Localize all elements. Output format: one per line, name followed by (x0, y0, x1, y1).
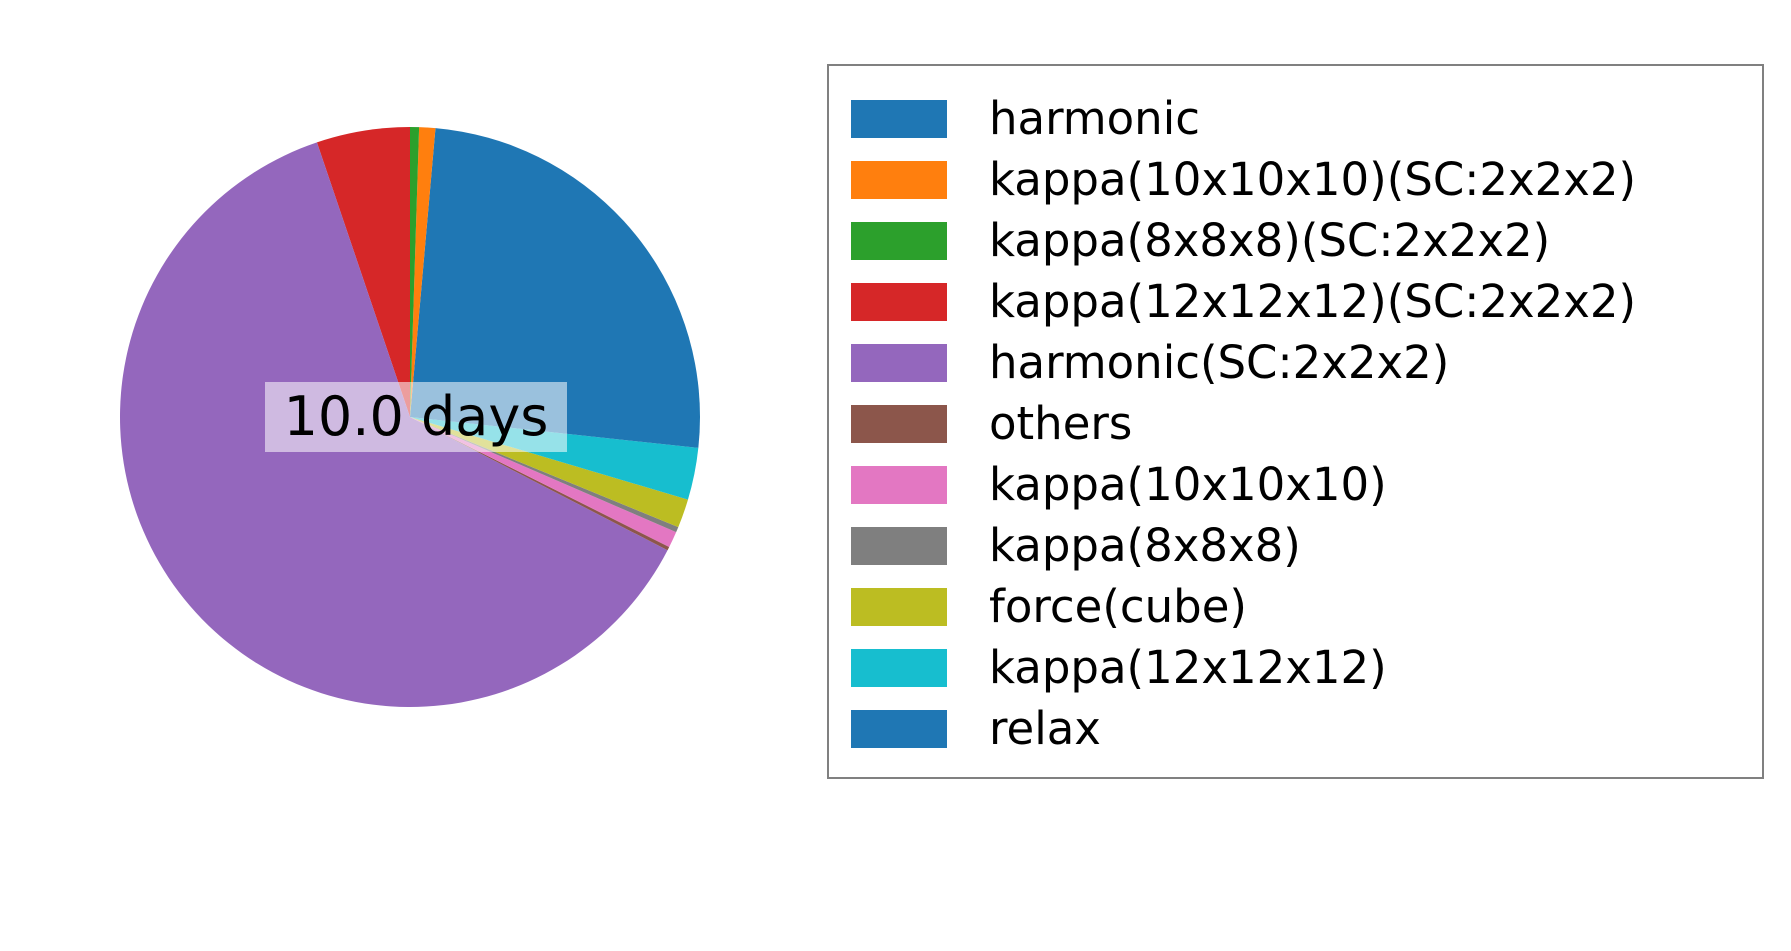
pie-center-label: 10.0 days (265, 382, 567, 452)
legend-item-relax[interactable]: relax (851, 698, 1762, 759)
legend-item-kappa-12x12x12-sc[interactable]: kappa(12x12x12)(SC:2x2x2) (851, 271, 1762, 332)
legend-item-label: harmonic (989, 96, 1200, 141)
legend-swatch-icon (851, 588, 947, 626)
legend-item-kappa-10x10x10[interactable]: kappa(10x10x10) (851, 454, 1762, 515)
legend-swatch-icon (851, 344, 947, 382)
legend-item-label: kappa(12x12x12) (989, 645, 1387, 690)
legend-swatch-icon (851, 222, 947, 260)
legend-item-label: force(cube) (989, 584, 1247, 629)
legend-item-label: others (989, 401, 1132, 446)
legend-box: harmonic kappa(10x10x10)(SC:2x2x2) kappa… (827, 64, 1764, 779)
legend-swatch-icon (851, 100, 947, 138)
pie-svg (0, 0, 830, 951)
legend-item-kappa-10x10x10-sc[interactable]: kappa(10x10x10)(SC:2x2x2) (851, 149, 1762, 210)
legend-swatch-icon (851, 649, 947, 687)
legend-item-label: kappa(8x8x8) (989, 523, 1301, 568)
legend-swatch-icon (851, 283, 947, 321)
legend-item-others[interactable]: others (851, 393, 1762, 454)
pie-chart-area: 10.0 days (0, 0, 830, 951)
legend-item-kappa-12x12x12[interactable]: kappa(12x12x12) (851, 637, 1762, 698)
legend-swatch-icon (851, 527, 947, 565)
legend-item-harmonic-sc[interactable]: harmonic(SC:2x2x2) (851, 332, 1762, 393)
legend-swatch-icon (851, 405, 947, 443)
legend-item-kappa-8x8x8-sc[interactable]: kappa(8x8x8)(SC:2x2x2) (851, 210, 1762, 271)
legend-item-label: kappa(12x12x12)(SC:2x2x2) (989, 279, 1636, 324)
legend-item-kappa-8x8x8[interactable]: kappa(8x8x8) (851, 515, 1762, 576)
legend-item-force-cube[interactable]: force(cube) (851, 576, 1762, 637)
pie-slice[interactable] (410, 128, 700, 417)
legend-swatch-icon (851, 161, 947, 199)
legend-swatch-icon (851, 710, 947, 748)
pie-chart-figure: 10.0 days harmonic kappa(10x10x10)(SC:2x… (0, 0, 1791, 951)
legend-item-label: relax (989, 706, 1101, 751)
legend-item-harmonic[interactable]: harmonic (851, 88, 1762, 149)
legend-swatch-icon (851, 466, 947, 504)
legend-item-label: kappa(8x8x8)(SC:2x2x2) (989, 218, 1550, 263)
legend-item-label: kappa(10x10x10) (989, 462, 1387, 507)
legend-item-label: kappa(10x10x10)(SC:2x2x2) (989, 157, 1636, 202)
legend-item-label: harmonic(SC:2x2x2) (989, 340, 1449, 385)
